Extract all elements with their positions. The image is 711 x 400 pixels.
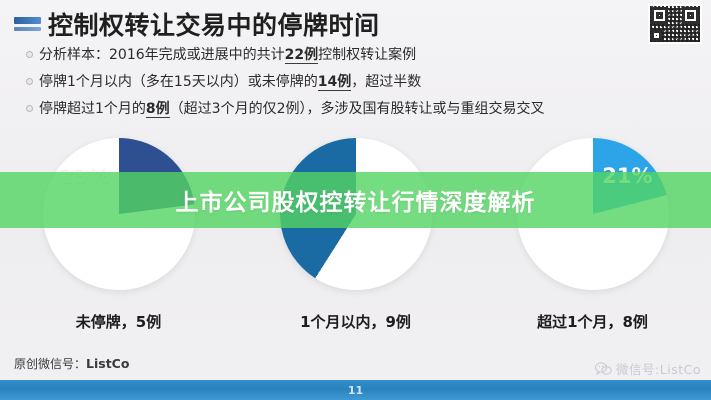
footer-credit-value: ListCo: [86, 356, 129, 371]
bullet-text: 停牌超过1个月的8例（超过3个月的仅2例），多涉及国有股转让或与重组交易交叉: [39, 100, 545, 119]
overlay-banner: 上市公司股权控转让行情深度解析: [0, 172, 711, 228]
wechat-watermark-text: 微信号:ListCo: [616, 359, 701, 378]
pie-chart-2: 1个月以内，9例: [251, 138, 461, 332]
page-title: 控制权转让交易中的停牌时间: [48, 6, 380, 42]
wechat-icon: [595, 362, 612, 376]
pie-caption-1: 未停牌，5例: [76, 311, 161, 332]
bullet-item: 停牌1个月以内（多在15天以内）或未停牌的14例，超过半数: [26, 73, 691, 92]
qr-code-pattern: [650, 6, 700, 42]
slide-title-row: 控制权转让交易中的停牌时间: [14, 6, 380, 42]
bullet-list: 分析样本：2016年完成或进展中的共计22例控制权转让案例 停牌1个月以内（多在…: [26, 46, 691, 127]
pie-chart-3: 21% 超过1个月，8例: [488, 138, 698, 332]
footer-credit-label: 原创微信号：: [14, 357, 86, 371]
footer-credit: 原创微信号：ListCo: [14, 355, 129, 372]
page-number: 11: [348, 384, 363, 397]
bullet-dot-icon: [26, 105, 33, 112]
slide-canvas: 控制权转让交易中的停牌时间 分析样本：2016年完成或进展中的共计22例控制权转…: [0, 0, 711, 400]
title-bars-icon: [14, 11, 41, 38]
pie-caption-3: 超过1个月，8例: [537, 311, 648, 332]
bullet-text: 停牌1个月以内（多在15天以内）或未停牌的14例，超过半数: [39, 73, 421, 92]
bullet-dot-icon: [26, 78, 33, 85]
bullet-item: 分析样本：2016年完成或进展中的共计22例控制权转让案例: [26, 46, 691, 65]
qr-code: [648, 4, 702, 44]
qr-finder-bottom-left: [651, 30, 662, 41]
bullet-item: 停牌超过1个月的8例（超过3个月的仅2例），多涉及国有股转让或与重组交易交叉: [26, 100, 691, 119]
bullet-dot-icon: [26, 51, 33, 58]
overlay-banner-text: 上市公司股权控转让行情深度解析: [176, 183, 536, 217]
pie-caption-2: 1个月以内，9例: [300, 311, 411, 332]
pie-chart-1: 23% 未停牌，5例: [14, 138, 224, 332]
pie-chart-group: 23% 未停牌，5例 1个月以内，9例 21% 超过1个月，8例: [0, 138, 711, 332]
footer-bar: 11: [0, 380, 711, 400]
wechat-watermark: 微信号:ListCo: [595, 359, 701, 378]
bullet-text: 分析样本：2016年完成或进展中的共计22例控制权转让案例: [39, 46, 416, 65]
